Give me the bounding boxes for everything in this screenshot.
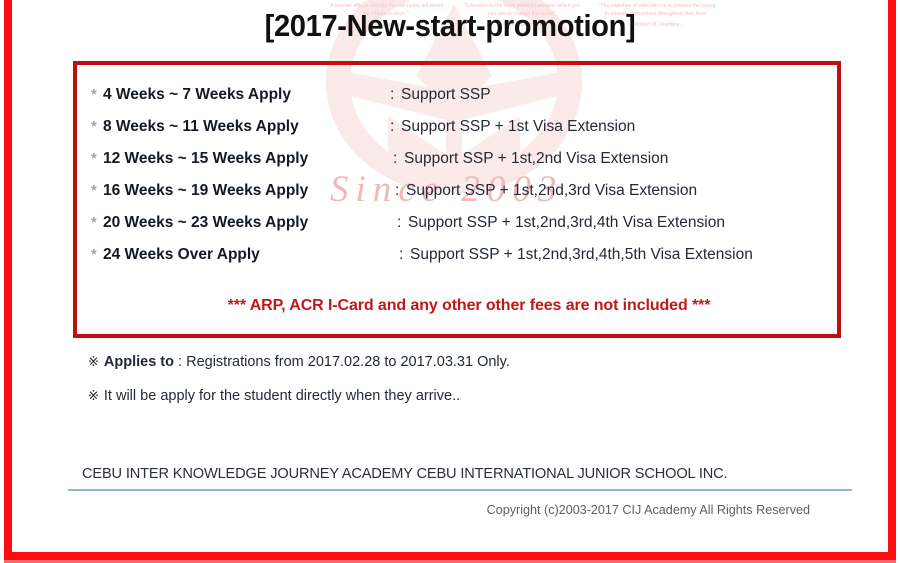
note-text: Registrations from 2017.02.28 to 2017.03… (186, 354, 510, 370)
promotion-row-list: * 4 Weeks ~ 7 Weeks Apply : Support SSP … (77, 79, 837, 271)
bullet-icon: * (91, 175, 97, 207)
duration-label: 24 Weeks Over Apply (103, 239, 260, 271)
fees-disclaimer: *** ARP, ACR I-Card and any other other … (77, 297, 837, 315)
duration-label: 16 Weeks ~ 19 Weeks Apply (103, 175, 308, 207)
bullet-icon: * (91, 79, 97, 111)
benefit-label: Support SSP + 1st,2nd,3rd Visa Extension (406, 175, 697, 207)
bullet-icon: * (91, 111, 97, 143)
reference-mark-icon: ※ (88, 354, 99, 369)
page-footer: CEBU INTER KNOWLEDGE JOURNEY ACADEMY CEB… (68, 466, 852, 517)
separator-colon: : (390, 79, 394, 111)
note-arrival: ※It will be apply for the student direct… (88, 389, 510, 404)
organization-name: CEBU INTER KNOWLEDGE JOURNEY ACADEMY CEB… (68, 466, 852, 482)
note-applies-to: ※Applies to : Registrations from 2017.02… (88, 355, 510, 370)
note-label: Applies to (104, 354, 174, 370)
promotion-table-box: * 4 Weeks ~ 7 Weeks Apply : Support SSP … (73, 61, 841, 338)
page-title: [2017-New-start-promotion] (27, 8, 873, 44)
table-row: * 12 Weeks ~ 15 Weeks Apply : Support SS… (77, 143, 837, 175)
bullet-icon: * (91, 143, 97, 175)
duration-label: 8 Weeks ~ 11 Weeks Apply (103, 111, 299, 143)
benefit-label: Support SSP + 1st Visa Extension (401, 111, 635, 143)
footer-divider (68, 489, 852, 491)
benefit-label: Support SSP (401, 79, 491, 111)
note-separator: : (174, 354, 186, 370)
copyright-text: Copyright (c)2003-2017 CIJ Academy All R… (68, 503, 852, 517)
table-row: * 24 Weeks Over Apply : Support SSP + 1s… (77, 239, 837, 271)
benefit-label: Support SSP + 1st,2nd,3rd,4th,5th Visa E… (410, 239, 753, 271)
benefit-label: Support SSP + 1st,2nd Visa Extension (404, 143, 668, 175)
note-text: It will be apply for the student directl… (104, 388, 460, 404)
promotion-notice-page: "A teacher affects eternity; he can neve… (0, 0, 900, 563)
separator-colon: : (390, 111, 394, 143)
table-row: * 4 Weeks ~ 7 Weeks Apply : Support SSP (77, 79, 837, 111)
benefit-label: Support SSP + 1st,2nd,3rd,4th Visa Exten… (408, 207, 725, 239)
bullet-icon: * (91, 239, 97, 271)
table-row: * 16 Weeks ~ 19 Weeks Apply : Support SS… (77, 175, 837, 207)
reference-mark-icon: ※ (88, 388, 99, 403)
table-row: * 8 Weeks ~ 11 Weeks Apply : Support SSP… (77, 111, 837, 143)
notes-list: ※Applies to : Registrations from 2017.02… (88, 355, 510, 422)
duration-label: 4 Weeks ~ 7 Weeks Apply (103, 79, 291, 111)
duration-label: 12 Weeks ~ 15 Weeks Apply (103, 143, 308, 175)
separator-colon: : (393, 143, 397, 175)
duration-label: 20 Weeks ~ 23 Weeks Apply (103, 207, 308, 239)
separator-colon: : (395, 175, 399, 207)
bullet-icon: * (91, 207, 97, 239)
separator-colon: : (397, 207, 401, 239)
table-row: * 20 Weeks ~ 23 Weeks Apply : Support SS… (77, 207, 837, 239)
separator-colon: : (399, 239, 403, 271)
